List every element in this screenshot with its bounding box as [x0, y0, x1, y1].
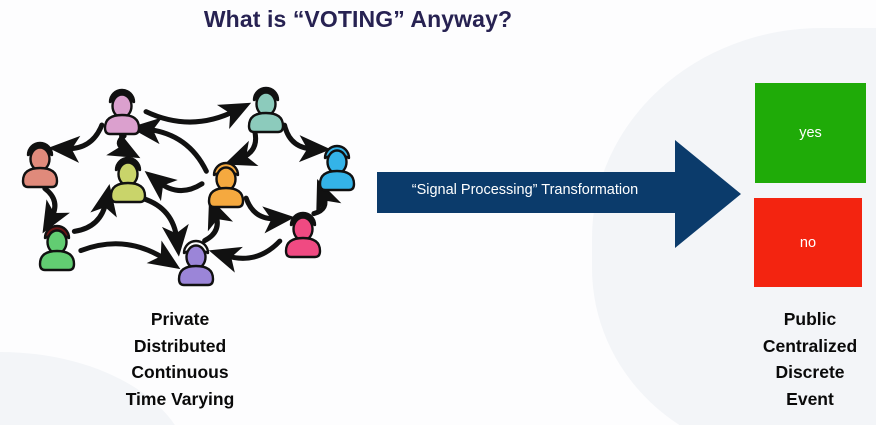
network-edge	[225, 241, 280, 258]
person-purple	[179, 241, 213, 285]
slide-canvas: What is “VOTING” Anyway? Private Distrib…	[0, 0, 876, 425]
person-body	[286, 238, 320, 257]
right-attributes-caption: Public Centralized Discrete Event	[740, 306, 876, 412]
vote-box-no[interactable]: no	[754, 198, 862, 287]
network-edge	[285, 125, 314, 149]
person-body	[179, 266, 213, 285]
vote-box-yes[interactable]: yes	[755, 83, 866, 183]
network-edge	[246, 198, 278, 219]
network-svg	[0, 66, 380, 306]
network-edge	[119, 136, 125, 150]
right-attribute-line-3: Discrete	[740, 359, 876, 386]
person-body	[40, 251, 74, 270]
person-body	[209, 188, 243, 207]
transformation-arrow-shape	[375, 138, 743, 250]
network-nodes	[23, 88, 354, 285]
network-edge	[143, 199, 177, 240]
network-edge	[158, 182, 202, 191]
person-magenta	[286, 213, 320, 257]
network-edges	[45, 110, 325, 259]
person-body	[105, 115, 139, 134]
network-edge	[240, 131, 256, 158]
right-attribute-line-4: Event	[740, 386, 876, 413]
transformation-arrow	[375, 138, 743, 250]
person-blue	[320, 146, 354, 190]
person-body	[320, 171, 354, 190]
person-salmon	[23, 143, 57, 187]
person-green	[40, 226, 74, 270]
network-edge	[74, 201, 106, 232]
left-attributes-caption: Private Distributed Continuous Time Vary…	[60, 306, 300, 412]
vote-box-no-label: no	[800, 235, 816, 251]
right-attribute-line-2: Centralized	[740, 333, 876, 360]
left-attribute-line-1: Private	[60, 306, 300, 333]
page-title: What is “VOTING” Anyway?	[0, 6, 716, 33]
network-edge	[314, 195, 325, 214]
arrow-polygon	[377, 140, 741, 248]
network-edge	[65, 125, 102, 149]
left-attribute-line-2: Distributed	[60, 333, 300, 360]
person-body	[23, 168, 57, 187]
network-edge	[81, 244, 166, 260]
person-body	[249, 113, 283, 132]
right-attribute-line-1: Public	[740, 306, 876, 333]
left-attribute-line-3: Continuous	[60, 359, 300, 386]
person-orange	[209, 163, 243, 207]
person-teal	[249, 88, 283, 132]
network-edge	[146, 110, 236, 122]
peer-network-diagram	[0, 66, 380, 306]
network-edge	[205, 213, 218, 241]
person-mauve	[105, 90, 139, 134]
person-body	[111, 183, 145, 202]
vote-box-yes-label: yes	[799, 125, 822, 141]
person-olive	[111, 158, 145, 202]
network-edge	[45, 189, 55, 219]
network-edge	[147, 129, 207, 171]
left-attribute-line-4: Time Varying	[60, 386, 300, 413]
